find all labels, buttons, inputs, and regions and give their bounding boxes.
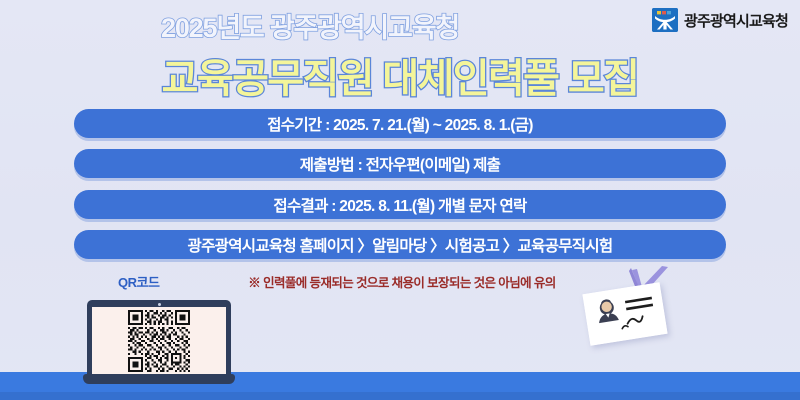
laptop-camera-icon [158,303,161,306]
poster-subtitle: 2025년도 광주광역시교육청 [0,6,620,45]
info-bar-text: 접수기간 : 2025. 7. 21.(월) ~ 2025. 8. 1.(금) [267,113,532,135]
laptop-lid [87,300,231,378]
caution-note: ※ 인력풀에 등재되는 것으로 채용이 보장되는 것은 아님에 유의 [192,272,612,291]
laptop-illustration [83,300,235,385]
qr-code-label: QR코드 [118,272,159,291]
info-bar-text: 제출방법 : 전자우편(이메일) 제출 [300,153,501,175]
info-bar-submission-method: 제출방법 : 전자우편(이메일) 제출 [74,149,726,178]
info-bar-application-period: 접수기간 : 2025. 7. 21.(월) ~ 2025. 8. 1.(금) [74,109,726,138]
laptop-screen [92,307,226,374]
info-bar-result-notice: 접수결과 : 2025. 8. 11.(월) 개별 문자 연락 [74,190,726,219]
organization-logo: 광주광역시교육청 [652,8,788,32]
breadcrumb-text: 광주광역시교육청 홈페이지 〉알림마당 〉시험공고 〉교육공무직시험 [188,234,613,256]
resume-illustration [586,266,696,346]
resume-card [582,282,667,346]
organization-logo-label: 광주광역시교육청 [684,10,788,31]
info-bar-text: 접수결과 : 2025. 8. 11.(월) 개별 문자 연락 [273,194,526,216]
info-bar-website-path: 광주광역시교육청 홈페이지 〉알림마당 〉시험공고 〉교육공무직시험 [74,230,726,259]
poster-title: 교육공무직원 대체인력풀 모집 [0,46,800,104]
laptop-base [83,374,235,384]
gwangju-education-office-emblem-icon [652,8,678,32]
qr-code-icon[interactable] [128,310,190,372]
resume-card-content [582,282,667,346]
poster-canvas: 광주광역시교육청 2025년도 광주광역시교육청 교육공무직원 대체인력풀 모집… [0,0,800,400]
floor-band-shadow [0,392,800,400]
